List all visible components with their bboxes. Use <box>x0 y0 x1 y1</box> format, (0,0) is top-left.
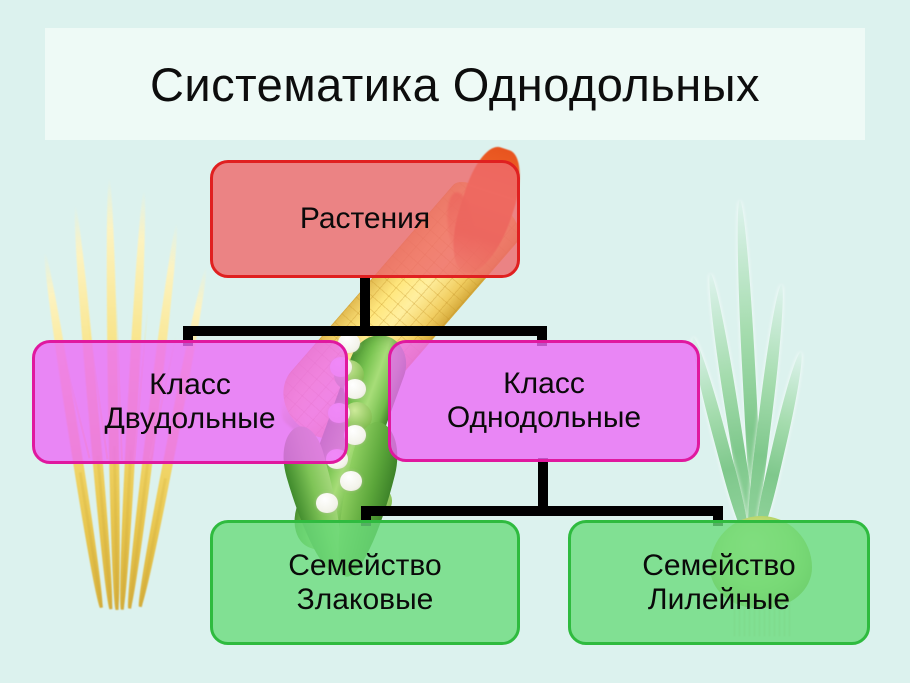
node-class-dicotyledons[interactable]: Класс Двудольные <box>32 340 348 464</box>
node-class-dicotyledons-label: Класс Двудольные <box>104 368 275 436</box>
node-class-monocotyledons-label: Класс Однодольные <box>447 367 641 435</box>
node-family-liliaceae-line1: Семейство <box>642 549 795 582</box>
node-plants-label: Растения <box>300 202 430 236</box>
node-family-liliaceae-label: Семейство Лилейные <box>642 549 795 617</box>
node-class-dicotyledons-line1: Класс <box>149 368 231 401</box>
connector-root-stem <box>360 276 370 330</box>
connector-monocot-stem <box>538 458 548 510</box>
page-title: Систематика Однодольных <box>150 57 760 112</box>
node-plants[interactable]: Растения <box>210 160 520 278</box>
node-family-poaceae[interactable]: Семейство Злаковые <box>210 520 520 645</box>
node-family-poaceae-line2: Злаковые <box>297 583 434 616</box>
connector-level2-crossbar <box>361 506 723 516</box>
node-family-poaceae-label: Семейство Злаковые <box>288 549 441 617</box>
title-banner: Систематика Однодольных <box>45 28 865 140</box>
node-family-poaceae-line1: Семейство <box>288 549 441 582</box>
node-family-liliaceae-line2: Лилейные <box>648 583 790 616</box>
node-class-dicotyledons-line2: Двудольные <box>104 402 275 435</box>
node-family-liliaceae[interactable]: Семейство Лилейные <box>568 520 870 645</box>
slide-canvas: Систематика Однодольных Растения Класс Д… <box>0 0 910 683</box>
connector-level1-crossbar <box>183 326 547 336</box>
node-class-monocotyledons-line1: Класс <box>503 367 585 400</box>
node-class-monocotyledons[interactable]: Класс Однодольные <box>388 340 700 462</box>
node-class-monocotyledons-line2: Однодольные <box>447 401 641 434</box>
